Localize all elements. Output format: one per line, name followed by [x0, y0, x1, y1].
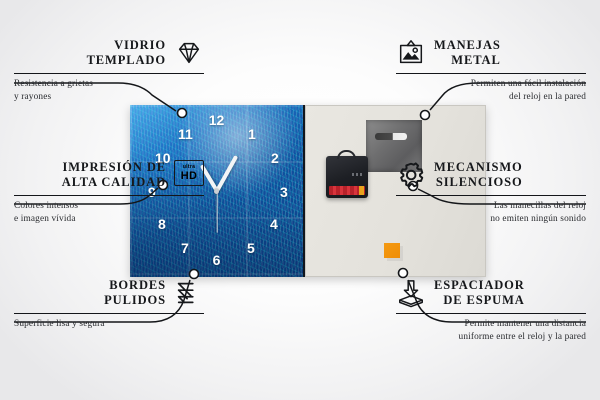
callout-subtitle-line1: Resistencia a grietas: [14, 78, 204, 91]
clock-minute-hand: [215, 155, 238, 192]
clock-numeral-12: 12: [209, 113, 225, 127]
foam-spacer-pad: [384, 243, 400, 258]
callout-subtitle: Permiten una fácil instalación del reloj…: [396, 78, 586, 103]
infographic-stage: 12 1 2 3 4 5 6 7 8 9 10 11: [0, 0, 600, 400]
gear-icon: [396, 160, 426, 190]
clock-numeral-1: 1: [248, 127, 256, 141]
callout-title: BORDES PULIDOS: [104, 278, 166, 309]
callout-title-line1: IMPRESIÓN DE: [62, 160, 166, 175]
callout-title: MANEJAS METAL: [434, 38, 501, 69]
callout-subtitle-line2: uniforme entre el reloj y la pared: [396, 331, 586, 344]
callout-manejas-metal[interactable]: MANEJAS METAL Permiten una fácil instala…: [396, 38, 586, 103]
callout-title-line2: METAL: [434, 53, 501, 68]
clock-numeral-6: 6: [213, 253, 221, 267]
callout-header: VIDRIO TEMPLADO: [14, 38, 204, 69]
clock-numeral-5: 5: [247, 241, 255, 255]
callout-header: MANEJAS METAL: [396, 38, 586, 69]
clock-center-pin: [214, 189, 219, 194]
callout-subtitle-line2: del reloj en la pared: [396, 91, 586, 104]
callout-divider: [396, 195, 586, 197]
callout-divider: [396, 73, 586, 75]
callout-title-line2: PULIDOS: [104, 293, 166, 308]
clock-numeral-4: 4: [270, 217, 278, 231]
callout-bordes-pulidos[interactable]: BORDES PULIDOS Superficie lisa y segura: [14, 278, 204, 331]
callout-subtitle-line1: Colores intensos: [14, 200, 204, 213]
callout-subtitle-line1: Permite mantener una distancia: [396, 318, 586, 331]
foam-spacer-arrow-icon: [396, 278, 426, 308]
callout-header: BORDES PULIDOS: [14, 278, 204, 309]
ultra-hd-icon-top-label: ultra: [183, 165, 195, 170]
polished-edges-icon: [174, 278, 204, 308]
clock-mechanism-box: [326, 156, 368, 198]
hanger-slot: [375, 133, 407, 140]
callout-title-line2: TEMPLADO: [87, 53, 166, 68]
callout-title: MECANISMO SILENCIOSO: [434, 160, 523, 191]
framed-picture-hanging-icon: [396, 38, 426, 68]
mechanism-hanging-loop: [337, 150, 356, 159]
mechanism-detail: [352, 173, 364, 176]
callout-subtitle-line1: Superficie lisa y segura: [14, 318, 204, 331]
callout-subtitle: Superficie lisa y segura: [14, 318, 204, 331]
clock-numeral-2: 2: [271, 151, 279, 165]
clock-numeral-3: 3: [280, 185, 288, 199]
callout-title-line2: DE ESPUMA: [434, 293, 525, 308]
callout-title-line1: MANEJAS: [434, 38, 501, 53]
callout-header: ESPACIADOR DE ESPUMA: [396, 278, 586, 309]
callout-title-line1: ESPACIADOR: [434, 278, 525, 293]
callout-divider: [396, 313, 586, 315]
callout-title-line1: MECANISMO: [434, 160, 523, 175]
callout-subtitle-line1: Permiten una fácil instalación: [396, 78, 586, 91]
callout-header: MECANISMO SILENCIOSO: [396, 160, 586, 191]
battery-compartment: [329, 186, 365, 195]
callout-title-line1: BORDES: [104, 278, 166, 293]
callout-subtitle-line2: no emiten ningún sonido: [396, 213, 586, 226]
ultra-hd-icon: ultra HD: [174, 160, 204, 190]
ultra-hd-icon-main-label: HD: [181, 171, 198, 182]
callout-impresion-alta-calidad[interactable]: IMPRESIÓN DE ALTA CALIDAD ultra HD Color…: [14, 160, 204, 225]
callout-header: IMPRESIÓN DE ALTA CALIDAD ultra HD: [14, 160, 204, 191]
callout-title: IMPRESIÓN DE ALTA CALIDAD: [62, 160, 166, 191]
clock-numeral-7: 7: [181, 241, 189, 255]
callout-subtitle: Resistencia a grietas y rayones: [14, 78, 204, 103]
callout-title-line2: SILENCIOSO: [434, 175, 523, 190]
callout-subtitle-line1: Las manecillas del reloj: [396, 200, 586, 213]
callout-title: ESPACIADOR DE ESPUMA: [434, 278, 525, 309]
callout-divider: [14, 195, 204, 197]
callout-subtitle: Las manecillas del reloj no emiten ningú…: [396, 200, 586, 225]
callout-title-line1: VIDRIO: [87, 38, 166, 53]
callout-divider: [14, 73, 204, 75]
callout-subtitle-line2: e imagen vívida: [14, 213, 204, 226]
clock-second-hand: [216, 191, 217, 233]
callout-mecanismo-silencioso[interactable]: MECANISMO SILENCIOSO Las manecillas del …: [396, 160, 586, 225]
callout-vidrio-templado[interactable]: VIDRIO TEMPLADO Resistencia a grietas y …: [14, 38, 204, 103]
clock-numeral-11: 11: [178, 127, 193, 141]
callout-espaciador-espuma[interactable]: ESPACIADOR DE ESPUMA Permite mantener un…: [396, 278, 586, 343]
callout-divider: [14, 313, 204, 315]
callout-subtitle-line2: y rayones: [14, 91, 204, 104]
callout-subtitle: Colores intensos e imagen vívida: [14, 200, 204, 225]
callout-subtitle: Permite mantener una distancia uniforme …: [396, 318, 586, 343]
callout-title-line2: ALTA CALIDAD: [62, 175, 166, 190]
diamond-icon: [174, 38, 204, 68]
callout-title: VIDRIO TEMPLADO: [87, 38, 166, 69]
